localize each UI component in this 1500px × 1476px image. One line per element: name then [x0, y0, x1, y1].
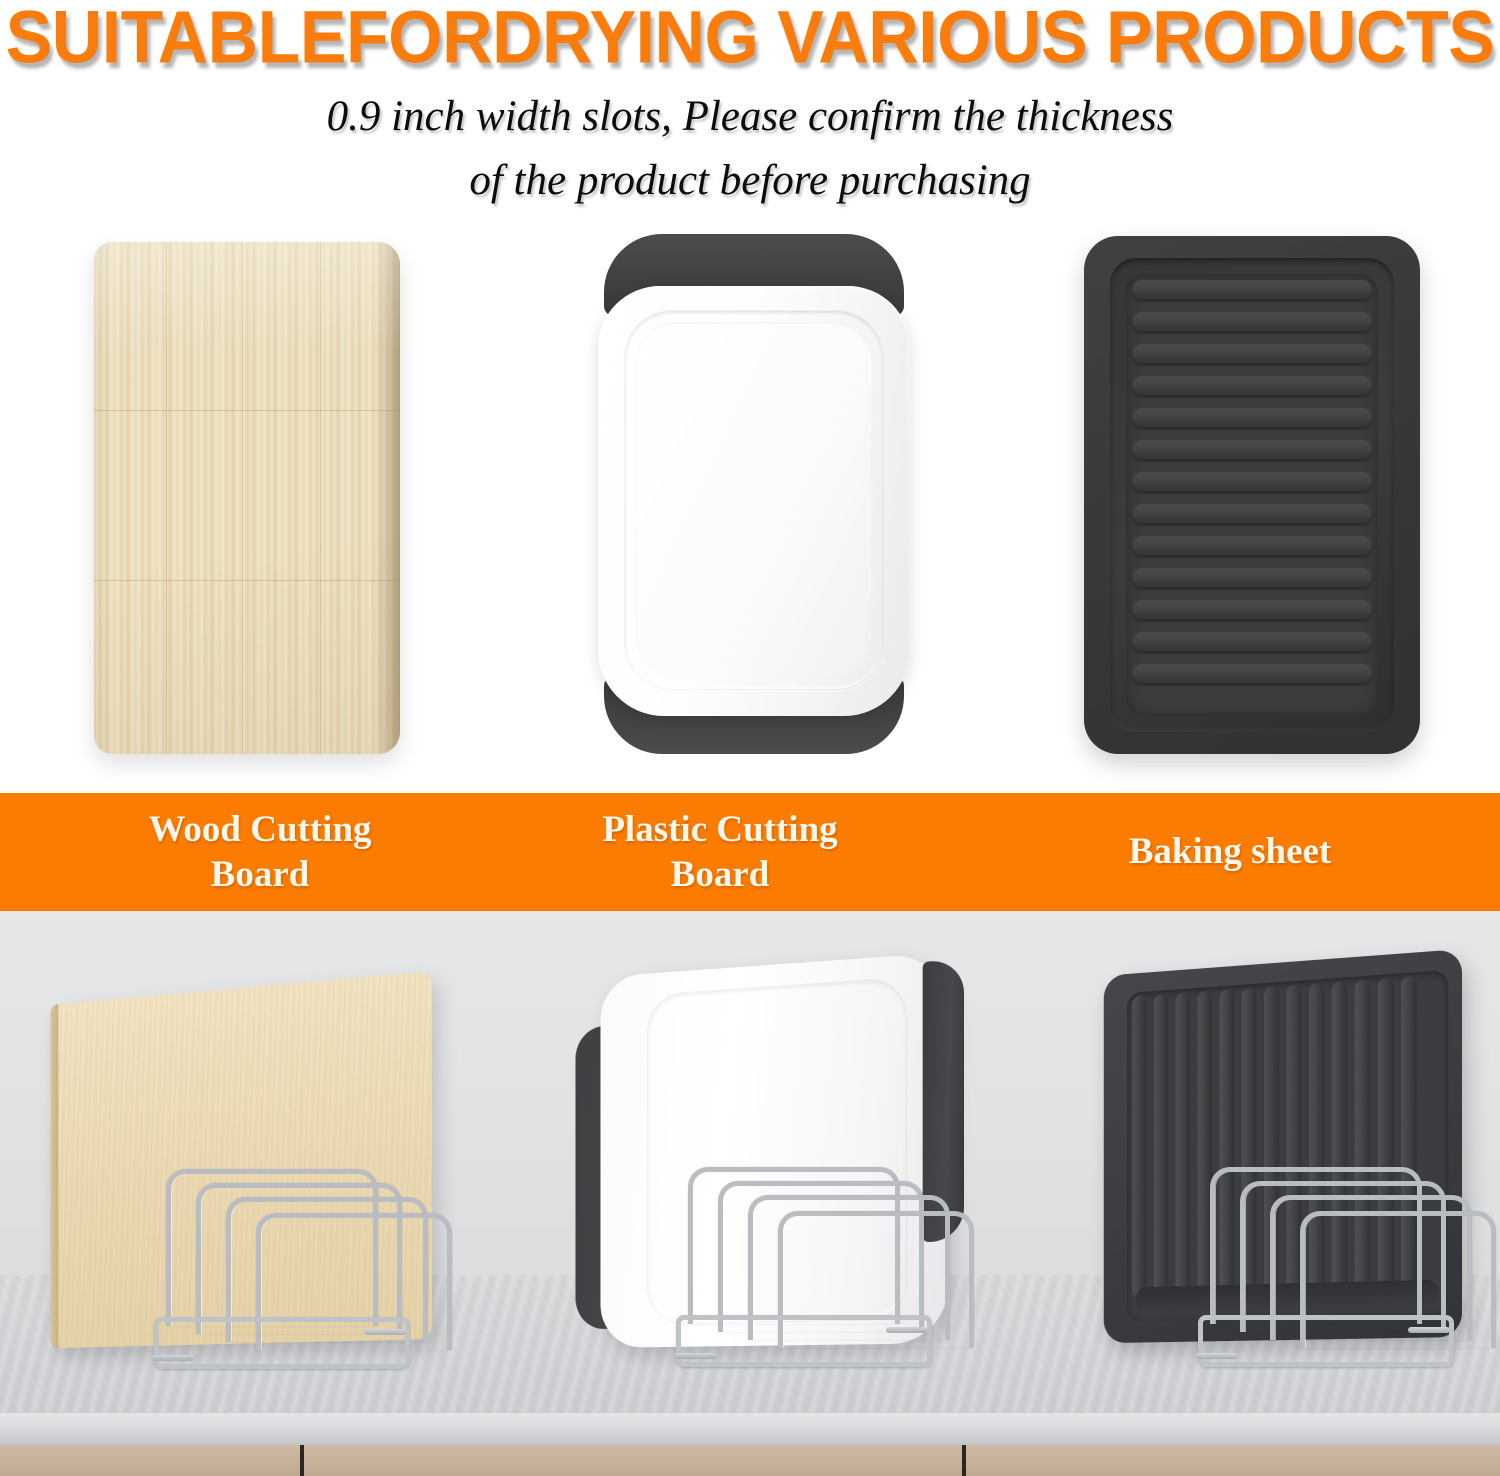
baking-sheet-icon [1084, 236, 1420, 754]
baking-sheet-ribbed-surface [1126, 274, 1378, 716]
scene-rack-wood [150, 1169, 426, 1361]
product-infographic: SUITABLEFORDRYING VARIOUS PRODUCTS 0.9 i… [0, 0, 1500, 1476]
plastic-board-inner-surface [636, 322, 872, 678]
page-title: SUITABLEFORDRYING VARIOUS PRODUCTS [0, 0, 1500, 79]
scene-wood-board-edge [51, 1004, 59, 1348]
subtitle-line-2: of the product before purchasing [0, 156, 1500, 205]
label-baking-sheet: Baking sheet [1000, 793, 1460, 911]
label-wood-line-1: Wood Cutting [148, 807, 371, 852]
product-cell-wood [0, 222, 500, 793]
label-plastic-cutting-board: Plastic Cutting Board [500, 793, 940, 911]
label-wood-line-2: Board [211, 852, 310, 897]
lifestyle-scene [0, 911, 1500, 1476]
label-wood-cutting-board: Wood Cutting Board [40, 793, 480, 911]
plastic-cutting-board-icon [598, 234, 910, 754]
label-plastic-line-1: Plastic Cutting [602, 807, 837, 852]
scene-rack-baking [1194, 1167, 1470, 1359]
label-baking-line-1: Baking sheet [1129, 829, 1332, 874]
header-section: SUITABLEFORDRYING VARIOUS PRODUCTS 0.9 i… [0, 0, 1500, 222]
wood-cutting-board-icon [94, 242, 400, 754]
product-cell-plastic [500, 222, 1000, 793]
subtitle-line-1: 0.9 inch width slots, Please confirm the… [0, 92, 1500, 141]
product-cell-baking [1000, 222, 1500, 793]
scene-cabinets [0, 1445, 1500, 1476]
label-plastic-line-2: Board [671, 852, 770, 897]
plastic-board-surface [598, 286, 910, 716]
product-studio-row [0, 222, 1500, 793]
scene-rack-plastic [672, 1167, 948, 1359]
product-label-band: Wood Cutting Board Plastic Cutting Board… [0, 793, 1500, 911]
scene-countertop-edge [0, 1413, 1500, 1446]
